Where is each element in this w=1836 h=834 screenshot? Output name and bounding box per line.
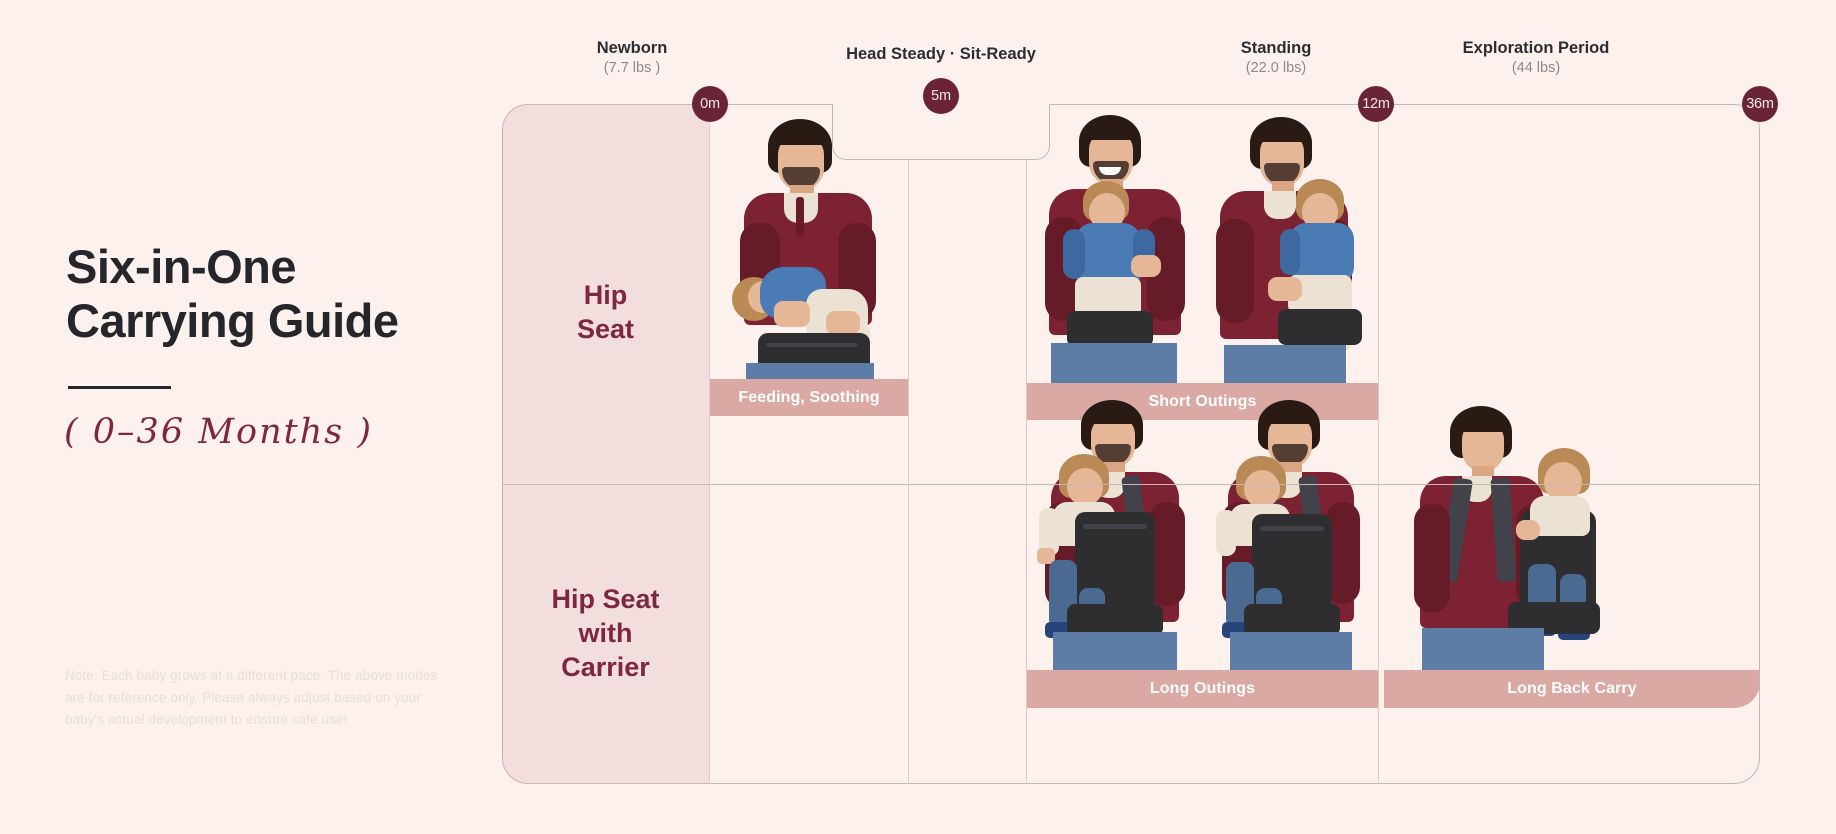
column-divider-1 xyxy=(709,104,710,784)
column-stage-label: Newborn xyxy=(524,38,740,59)
marker-label: 36m xyxy=(1746,96,1774,112)
left-panel: Six-in-One Carrying Guide ( 0–36 Months … xyxy=(0,0,500,834)
column-divider-3 xyxy=(1026,160,1027,784)
column-stage-label: Head Steady · Sit-Ready xyxy=(771,44,1111,65)
column-weight-label: (22.0 lbs) xyxy=(1168,59,1384,78)
marker-label: 0m xyxy=(700,96,720,112)
column-weight-label: (44 lbs) xyxy=(1368,59,1704,78)
month-marker-0m: 0m xyxy=(692,86,728,122)
column-weight-label: (7.7 lbs ) xyxy=(524,59,740,78)
month-marker-5m: 5m xyxy=(923,78,959,114)
page-title: Six-in-One Carrying Guide xyxy=(66,240,399,347)
column-stage-label: Standing xyxy=(1168,38,1384,59)
row-label-hip-seat-with-carrier: Hip Seat with Carrier xyxy=(502,582,709,684)
column-header-newborn: Newborn (7.7 lbs ) xyxy=(524,38,740,78)
marker-label: 12m xyxy=(1362,96,1390,112)
column-divider-4 xyxy=(1378,104,1379,784)
column-stage-label: Exploration Period xyxy=(1368,38,1704,59)
disclaimer-note: Note: Each baby grows at a different pac… xyxy=(65,665,445,731)
marker-label: 5m xyxy=(931,88,951,104)
column-header-standing: Standing (22.0 lbs) xyxy=(1168,38,1384,78)
column-divider-2 xyxy=(908,160,909,784)
page-subtitle: ( 0–36 Months ) xyxy=(64,412,373,452)
column-header-exploration: Exploration Period (44 lbs) xyxy=(1368,38,1704,78)
row-divider xyxy=(502,484,1760,485)
month-marker-36m: 36m xyxy=(1742,86,1778,122)
title-divider-rule xyxy=(68,386,171,389)
row-label-hip-seat: Hip Seat xyxy=(502,278,709,346)
month-marker-12m: 12m xyxy=(1358,86,1394,122)
column-header-head-steady: Head Steady · Sit-Ready xyxy=(771,44,1111,65)
carrying-guide-grid: Newborn (7.7 lbs ) Head Steady · Sit-Rea… xyxy=(502,0,1836,834)
